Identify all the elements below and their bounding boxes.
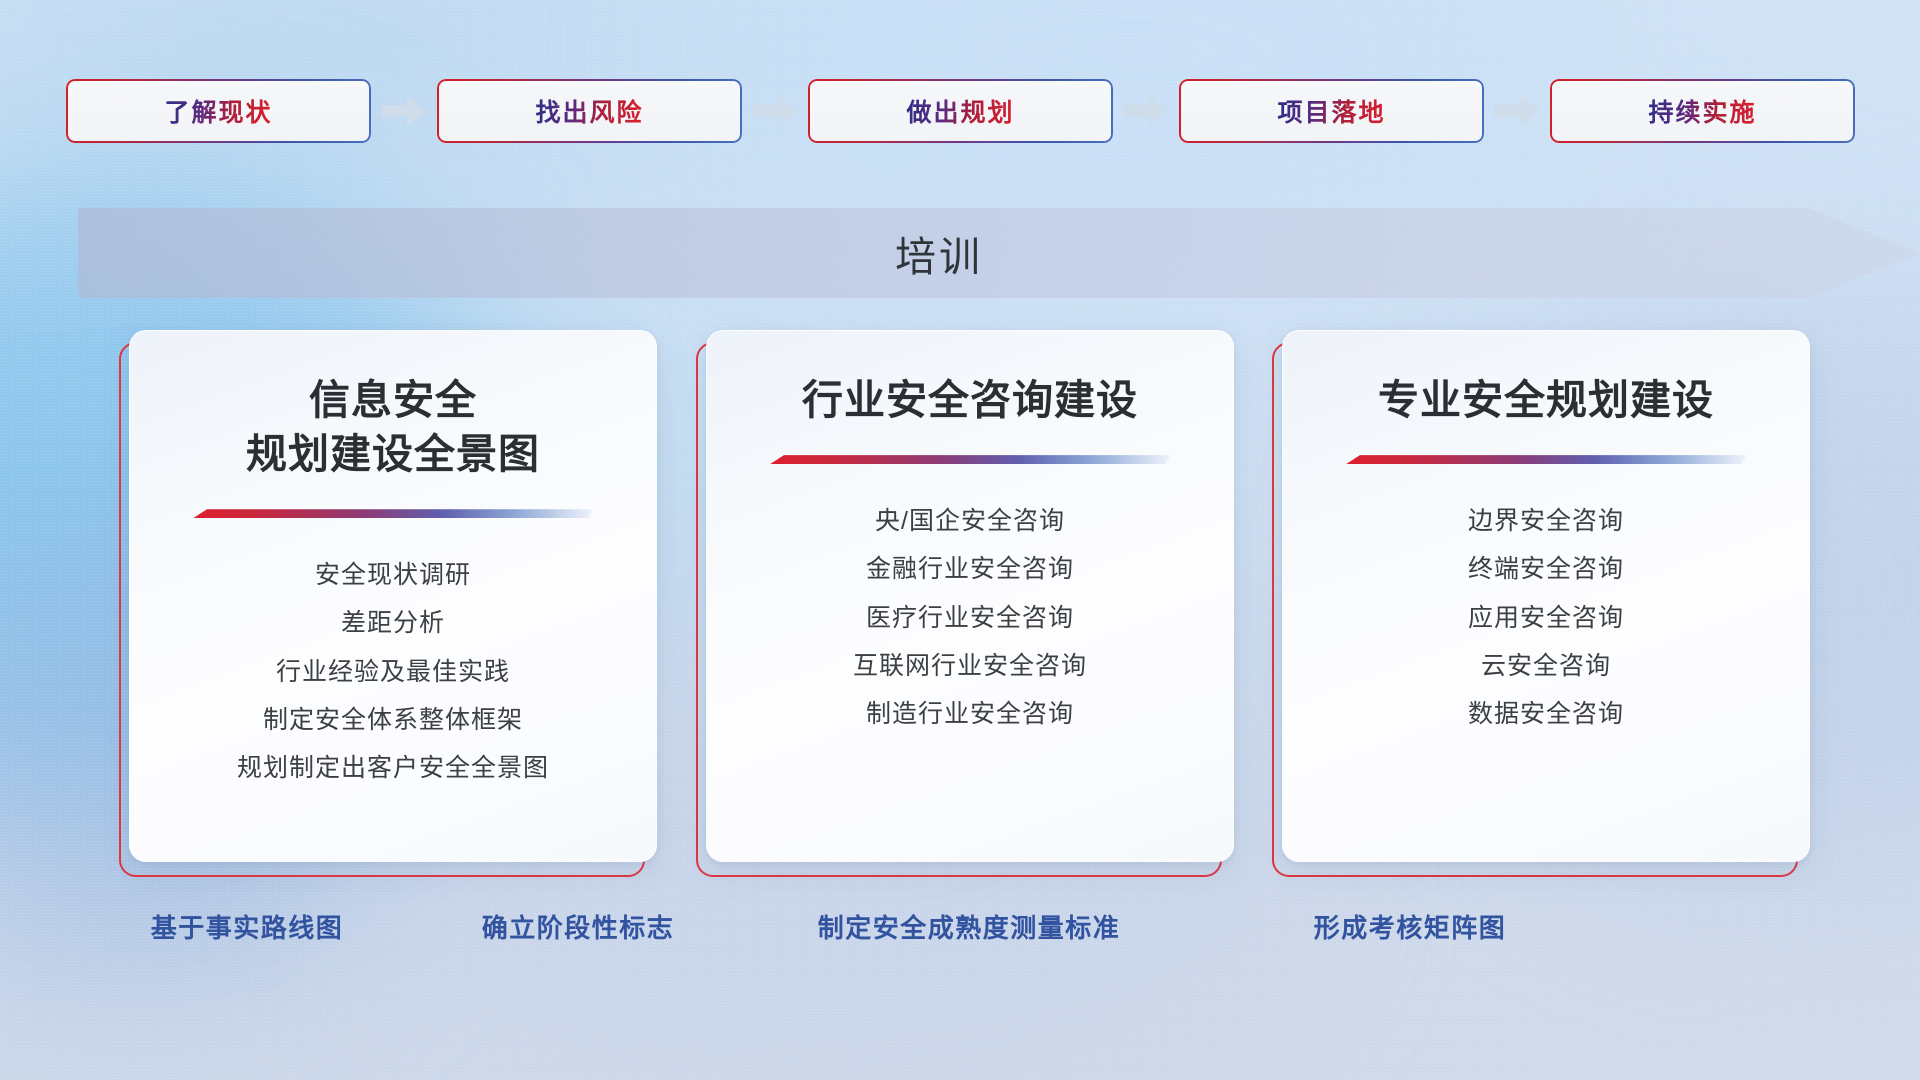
training-band-label: 培训 <box>78 208 1920 298</box>
step-label-3: 做出规划 <box>906 93 1014 129</box>
card-item-list-3: 边界安全咨询 终端安全咨询 应用安全咨询 云安全咨询 数据安全咨询 <box>1468 506 1624 730</box>
card-panel-3[interactable]: 专业安全规划建设 边界安全咨询 终端安全咨询 应用安全咨询 云安全咨询 数据安全… <box>1282 330 1810 862</box>
step-box-2[interactable]: 找出风险 <box>437 79 742 143</box>
card-item: 金融行业安全咨询 <box>866 554 1074 585</box>
card-panel-1[interactable]: 信息安全 规划建设全景图 安全现状调研 差距分析 行业经验及最佳实践 制定安全体… <box>129 330 657 862</box>
step-box-4[interactable]: 项目落地 <box>1179 79 1484 143</box>
training-band: 培训 <box>0 208 1920 298</box>
step-arrow-icon-1 <box>371 94 437 128</box>
footer-label-2: 确立阶段性标志 <box>482 908 675 945</box>
card-item: 云安全咨询 <box>1481 651 1611 682</box>
card-item: 央/国企安全咨询 <box>875 506 1065 537</box>
footer-label-3: 制定安全成熟度测量标准 <box>818 908 1121 945</box>
step-label-5: 持续实施 <box>1648 93 1756 129</box>
card-divider-1 <box>193 509 593 518</box>
card-item: 行业经验及最佳实践 <box>276 657 510 688</box>
service-card-2[interactable]: 行业安全咨询建设 央/国企安全咨询 金融行业安全咨询 医疗行业安全咨询 互联网行… <box>692 330 1222 875</box>
service-card-row: 信息安全 规划建设全景图 安全现状调研 差距分析 行业经验及最佳实践 制定安全体… <box>0 330 1920 890</box>
process-step-strip: 了解现状 找出风险 做出规划 项目落地 持续实施 <box>66 78 1856 144</box>
footer-label-4: 形成考核矩阵图 <box>1314 908 1507 945</box>
card-item: 安全现状调研 <box>315 560 471 591</box>
card-divider-2 <box>770 455 1170 464</box>
card-item: 医疗行业安全咨询 <box>866 603 1074 634</box>
step-arrow-icon-2 <box>742 94 808 128</box>
step-label-1: 了解现状 <box>164 93 272 129</box>
card-item: 互联网行业安全咨询 <box>853 651 1087 682</box>
step-label-2: 找出风险 <box>535 93 643 129</box>
step-box-3[interactable]: 做出规划 <box>808 79 1113 143</box>
step-arrow-icon-4 <box>1484 94 1550 128</box>
footer-label-1: 基于事实路线图 <box>151 908 344 945</box>
card-divider-3 <box>1346 455 1746 464</box>
card-item: 边界安全咨询 <box>1468 506 1624 537</box>
step-box-5[interactable]: 持续实施 <box>1550 79 1855 143</box>
card-panel-2[interactable]: 行业安全咨询建设 央/国企安全咨询 金融行业安全咨询 医疗行业安全咨询 互联网行… <box>706 330 1234 862</box>
card-item: 应用安全咨询 <box>1468 603 1624 634</box>
card-item-list-2: 央/国企安全咨询 金融行业安全咨询 医疗行业安全咨询 互联网行业安全咨询 制造行… <box>853 506 1087 730</box>
card-item: 终端安全咨询 <box>1468 554 1624 585</box>
card-item-list-1: 安全现状调研 差距分析 行业经验及最佳实践 制定安全体系整体框架 规划制定出客户… <box>237 560 549 784</box>
card-item: 规划制定出客户安全全景图 <box>237 753 549 784</box>
step-arrow-icon-3 <box>1113 94 1179 128</box>
service-card-3[interactable]: 专业安全规划建设 边界安全咨询 终端安全咨询 应用安全咨询 云安全咨询 数据安全… <box>1268 330 1798 875</box>
card-title-1: 信息安全 规划建设全景图 <box>246 373 540 481</box>
card-title-3: 专业安全规划建设 <box>1378 373 1714 427</box>
card-item: 制定安全体系整体框架 <box>263 705 523 736</box>
card-item: 制造行业安全咨询 <box>866 699 1074 730</box>
step-box-1[interactable]: 了解现状 <box>66 79 371 143</box>
card-title-2: 行业安全咨询建设 <box>802 373 1138 427</box>
service-card-1[interactable]: 信息安全 规划建设全景图 安全现状调研 差距分析 行业经验及最佳实践 制定安全体… <box>115 330 645 875</box>
footer-label-row: 基于事实路线图 确立阶段性标志 制定安全成熟度测量标准 形成考核矩阵图 <box>0 908 1920 968</box>
card-item: 差距分析 <box>341 608 445 639</box>
card-item: 数据安全咨询 <box>1468 699 1624 730</box>
step-label-4: 项目落地 <box>1277 93 1385 129</box>
